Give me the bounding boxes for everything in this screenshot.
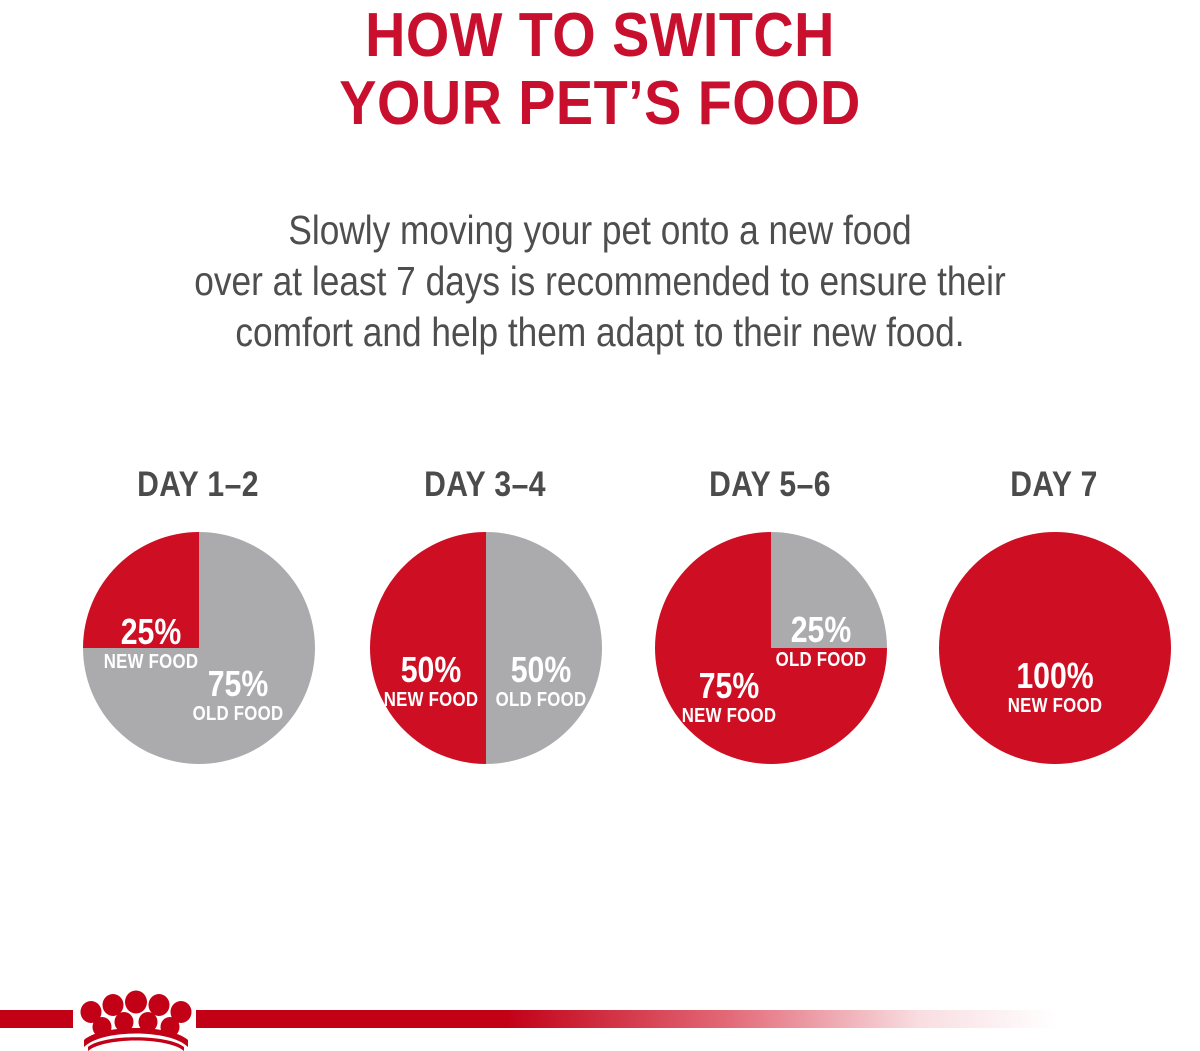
pie-slice-old-food — [486, 532, 602, 764]
pie-svg — [655, 532, 887, 764]
intro-line-3: comfort and help them adapt to their new… — [84, 307, 1116, 358]
page-title: HOW TO SWITCH YOUR PET’S FOOD — [0, 2, 1200, 138]
royal-canin-crown-icon — [72, 977, 200, 1051]
pie-group-day-5-6: DAY 5–6 25%OLD FOOD75%NEW FOOD — [650, 466, 890, 786]
pie-slice-new-food — [939, 532, 1171, 764]
pie-svg — [83, 532, 315, 764]
footer — [0, 1002, 1200, 1051]
pie-group-day-1-2: DAY 1–2 25%NEW FOOD75%OLD FOOD — [78, 466, 318, 786]
pie-chart-day-1-2: 25%NEW FOOD75%OLD FOOD — [83, 532, 315, 764]
intro-line-1: Slowly moving your pet onto a new food — [84, 205, 1116, 256]
day-label-3: DAY 5–6 — [667, 466, 873, 504]
pie-chart-day-7: 100%NEW FOOD — [939, 532, 1171, 764]
title-line-1: HOW TO SWITCH — [60, 2, 1140, 70]
intro-line-2: over at least 7 days is recommended to e… — [84, 256, 1116, 307]
day-label-4: DAY 7 — [951, 466, 1157, 504]
day-label-2: DAY 3–4 — [382, 466, 588, 504]
day-label-1: DAY 1–2 — [95, 466, 301, 504]
pie-slice-new-food — [83, 532, 199, 648]
pie-group-day-7: DAY 7 100%NEW FOOD — [934, 466, 1174, 786]
pie-svg — [939, 532, 1171, 764]
pie-slice-new-food — [370, 532, 486, 764]
intro-paragraph: Slowly moving your pet onto a new food o… — [0, 205, 1200, 358]
pie-slice-old-food — [771, 532, 887, 648]
pie-group-day-3-4: DAY 3–4 50%NEW FOOD50%OLD FOOD — [365, 466, 605, 786]
footer-bar-left — [0, 1010, 73, 1028]
pie-chart-row: DAY 1–2 25%NEW FOOD75%OLD FOOD DAY 3–4 5… — [0, 466, 1200, 786]
pie-chart-day-5-6: 25%OLD FOOD75%NEW FOOD — [655, 532, 887, 764]
footer-bar-right — [196, 1010, 1056, 1028]
pie-svg — [370, 532, 602, 764]
pie-chart-day-3-4: 50%NEW FOOD50%OLD FOOD — [370, 532, 602, 764]
title-line-2: YOUR PET’S FOOD — [60, 70, 1140, 138]
